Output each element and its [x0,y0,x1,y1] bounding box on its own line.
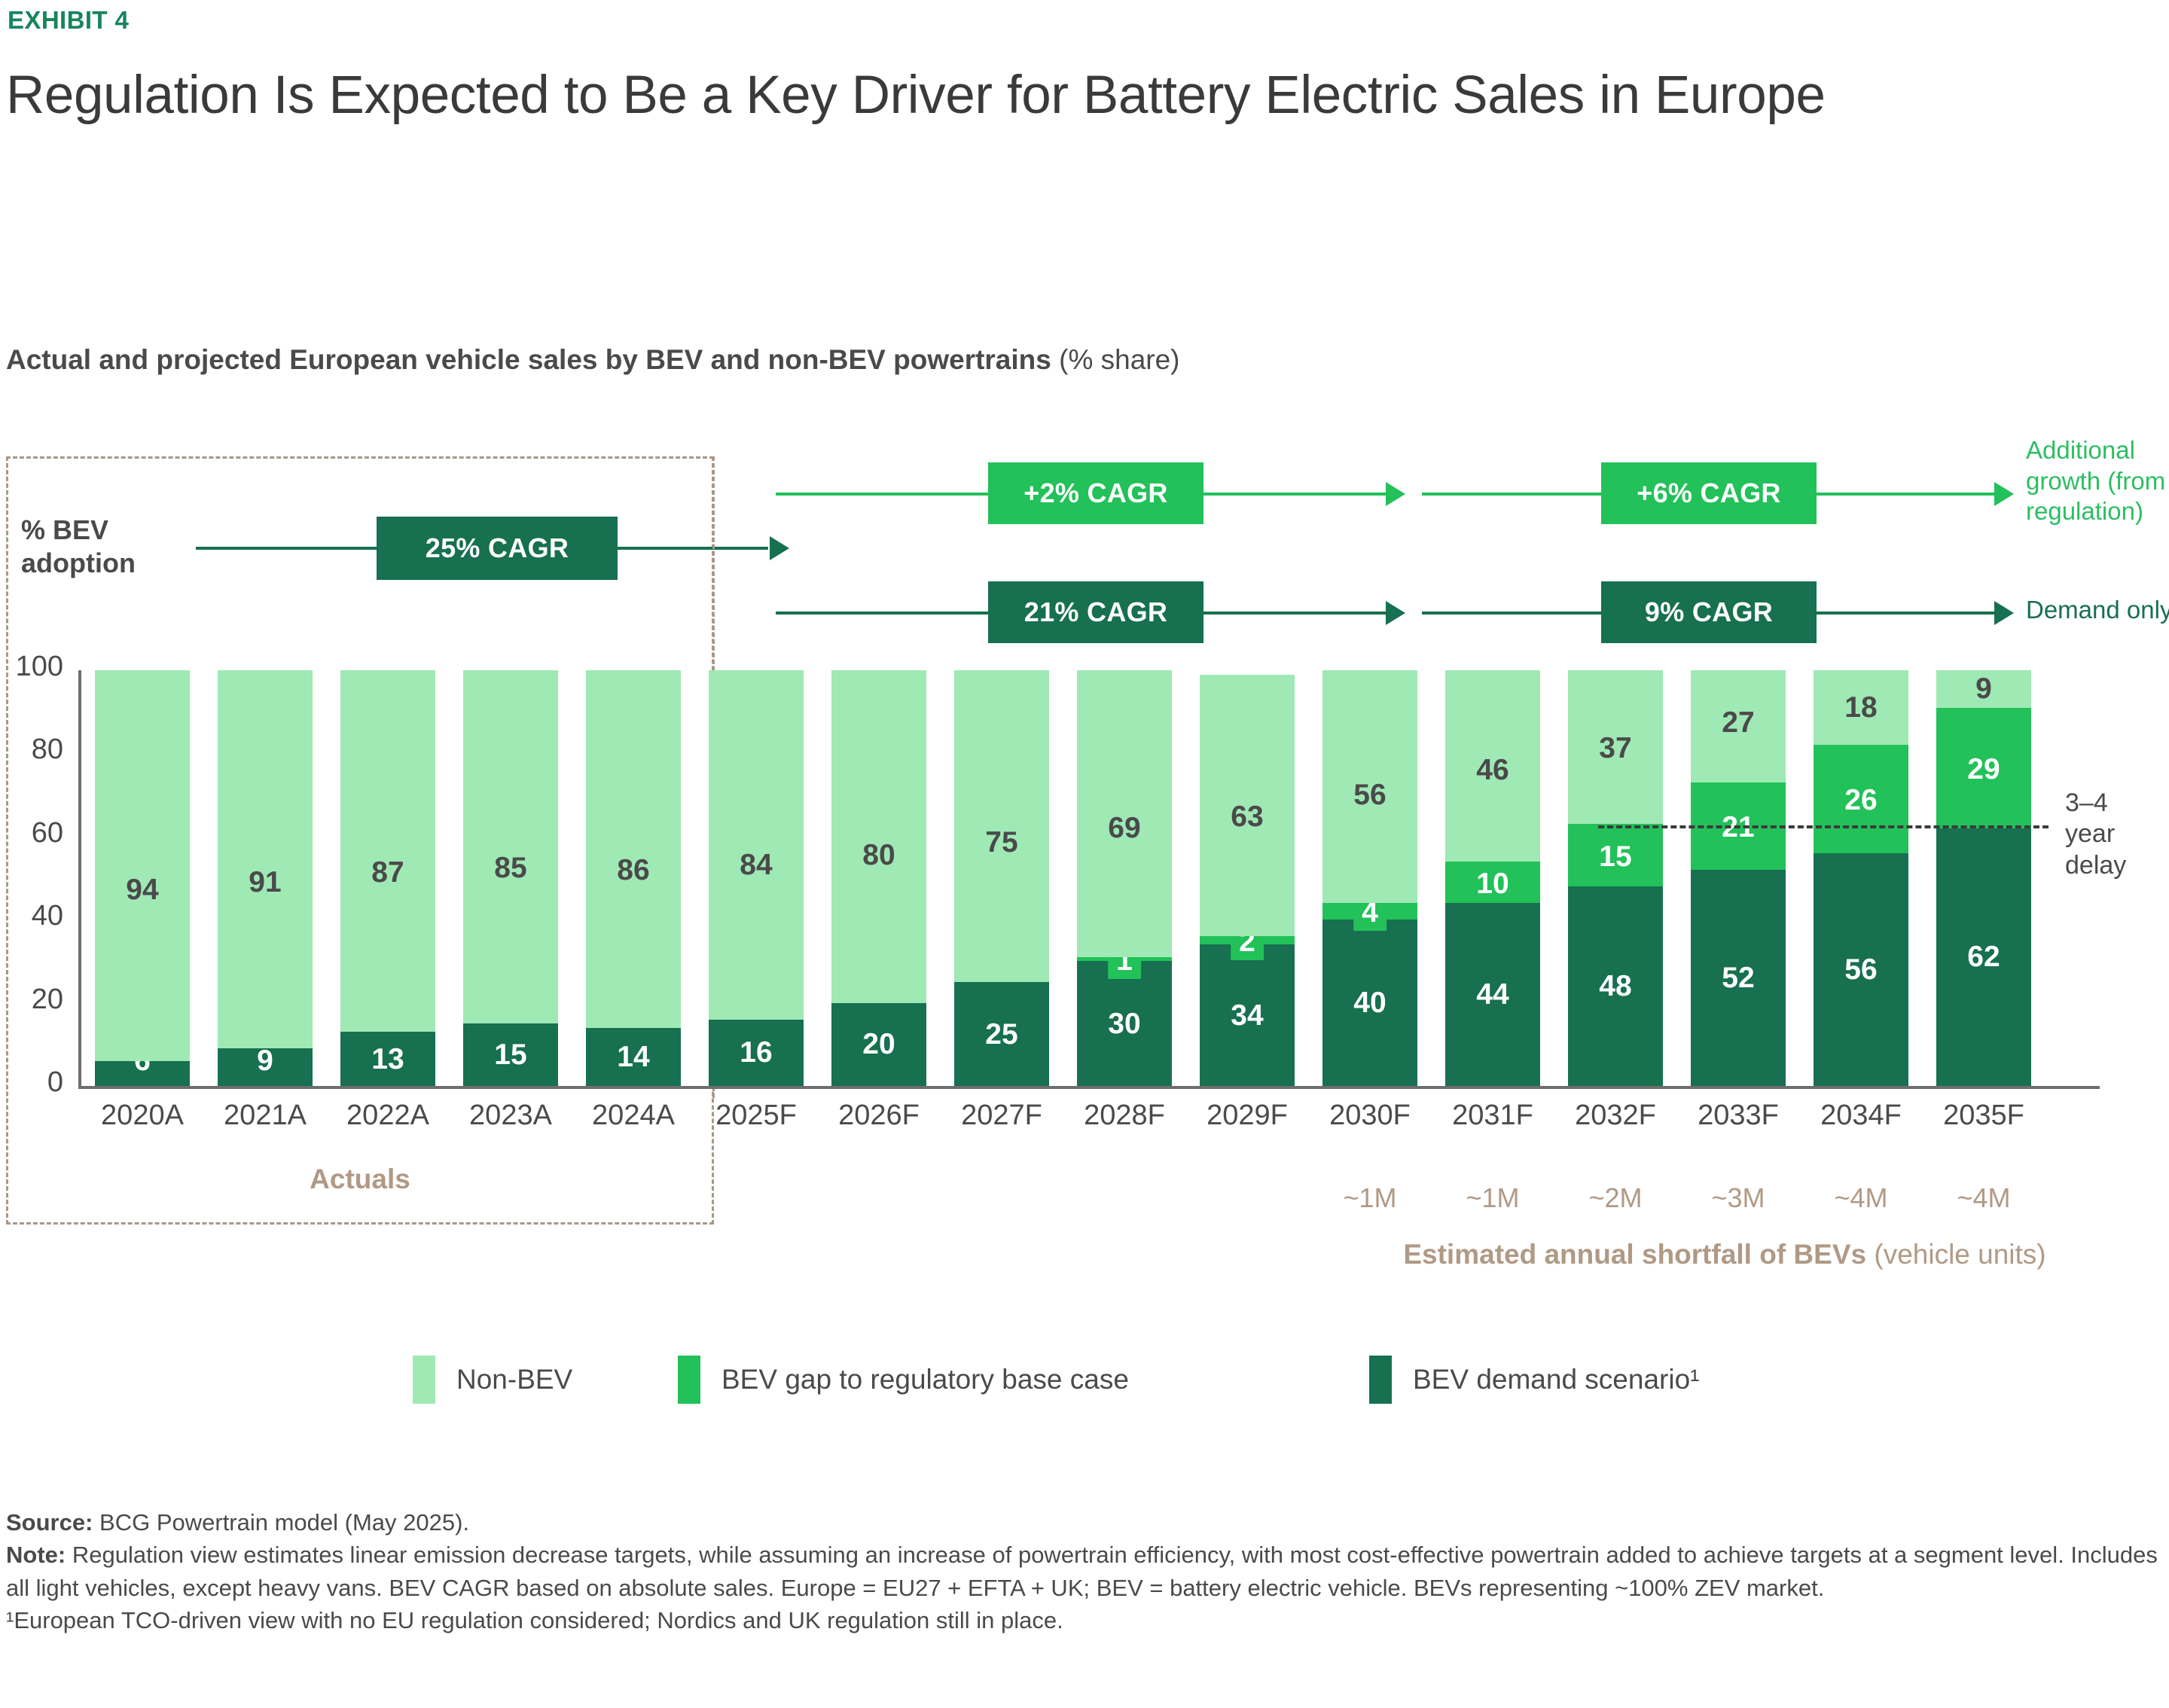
bar-segment-nonbev: 63 [1200,675,1295,937]
shortfall-value: ~1M [1306,1182,1434,1214]
x-axis-label: 2023A [447,1100,575,1132]
legend-item[interactable]: BEV demand scenario¹ [1369,1356,1699,1404]
bar-segment-nonbev: 75 [954,670,1049,982]
x-axis-label: 2031F [1429,1100,1557,1132]
bar-value-demand: 48 [1599,971,1631,1001]
bar-value-demand: 30 [1108,1009,1140,1039]
bar-segment-demand: 62 [1936,828,2031,1086]
legend-swatch [413,1356,435,1404]
footnote-source: Source: BCG Powertrain model (May 2025). [6,1506,2164,1539]
bar-column: 441046 [1445,670,1540,1086]
page-title: Regulation Is Expected to Be a Key Drive… [6,65,1934,127]
bar-value-nonbev: 84 [740,850,772,880]
cagr-arrowhead-reg-1 [1386,482,1405,506]
cagr-box-reg-1: +2% CAGR [988,462,1203,524]
side-note-demand-only: Demand only [2026,595,2169,626]
footnote-one: ¹European TCO-driven view with no EU reg… [6,1604,2164,1636]
bar-value-nonbev: 86 [617,856,649,885]
legend-label: BEV gap to regulatory base case [721,1364,1129,1395]
legend-label: Non-BEV [456,1364,572,1395]
cagr-line-reg-2 [1422,493,1994,496]
bar-column: 481537 [1568,670,1663,1086]
bar-value-gap: 10 [1468,865,1517,902]
shortfall-value: ~4M [1920,1182,2048,1214]
bar-segment-demand: 13 [340,1032,435,1086]
cagr-arrowhead-demand-1 [1386,601,1405,625]
bar-column: 2575 [954,670,1049,1086]
bar-column: 991 [218,670,313,1086]
shortfall-caption-normal: (vehicle units) [1866,1239,2046,1270]
cagr-line-reg-1 [776,493,1386,496]
bar-segment-nonbev: 27 [1691,670,1786,782]
y-axis-tick-label: 40 [0,900,63,932]
bar-value-demand: 13 [371,1045,404,1074]
x-axis-label: 2029F [1183,1100,1311,1132]
legend-label: BEV demand scenario¹ [1413,1364,1699,1395]
x-axis-label: 2034F [1797,1100,1925,1132]
footnotes: Source: BCG Powertrain model (May 2025).… [6,1506,2164,1637]
bar-column: 62299 [1936,670,2031,1086]
bar-value-demand: 56 [1844,955,1877,984]
shortfall-caption: Estimated annual shortfall of BEVs (vehi… [1280,1239,2169,1270]
cagr-arrowhead-demand-2 [1994,601,2014,625]
x-axis-label: 2035F [1920,1100,2048,1132]
footnote-note-text: Regulation view estimates linear emissio… [6,1542,2158,1600]
bar-column: 1684 [709,670,804,1086]
bar-value-demand: 9 [257,1046,273,1075]
delay-annotation: 3–4yeardelay [2065,788,2169,881]
cagr-line-demand-1 [776,612,1386,615]
bar-value-demand: 15 [494,1040,526,1069]
bar-segment-demand: 56 [1814,853,1908,1086]
bar-value-nonbev: 18 [1844,693,1877,722]
bar-segment-nonbev: 80 [831,670,926,1003]
bar-segment-demand: 52 [1691,870,1786,1086]
chart-subtitle: Actual and projected European vehicle sa… [6,344,1180,376]
bar-value-gap: 15 [1591,838,1640,875]
y-axis-tick-label: 20 [0,984,63,1016]
x-axis-label: 2033F [1674,1100,1802,1132]
x-axis-label: 2026F [815,1100,943,1132]
bar-segment-nonbev: 87 [340,670,435,1032]
bar-column: 40456 [1322,670,1417,1086]
bar-segment-nonbev: 94 [95,670,190,1061]
bar-segment-nonbev: 69 [1077,670,1172,957]
bar-segment-nonbev: 18 [1814,670,1908,745]
bar-segment-nonbev: 86 [586,670,681,1028]
bar-value-nonbev: 91 [249,868,281,897]
bar-segment-demand: 14 [586,1028,681,1086]
x-axis-label: 2032F [1551,1100,1679,1132]
shortfall-caption-bold: Estimated annual shortfall of BEVs [1403,1239,1866,1270]
x-axis-label: 2030F [1306,1100,1434,1132]
bar-segment-demand: 16 [709,1020,804,1086]
exhibit-label: EXHIBIT 4 [8,6,129,35]
x-axis-label: 2028F [1060,1100,1188,1132]
exhibit-page: EXHIBIT 4 Regulation Is Expected to Be a… [0,0,2169,1708]
bar-value-demand: 34 [1231,1001,1263,1030]
x-axis-label: 2025F [692,1100,820,1132]
y-axis-tick-label: 100 [0,651,63,683]
cagr-arrowhead-actuals [770,536,789,560]
footnote-note-label: Note: [6,1542,66,1568]
footnote-source-text: BCG Powertrain model (May 2025). [93,1509,469,1536]
cagr-line-demand-2 [1422,612,1994,615]
bar-segment-nonbev: 91 [218,670,313,1048]
bar-value-demand: 14 [617,1042,649,1072]
chart-subtitle-normal: (% share) [1051,344,1180,375]
x-axis-label: 2020A [78,1100,206,1132]
delay-guide-line [1598,825,2048,828]
bar-segment-demand: 40 [1322,920,1417,1086]
plot-area: 6949911387158514861684208025753016934263… [78,670,2097,1086]
bar-value-gap: 29 [1959,751,2008,788]
bar-value-demand: 44 [1476,980,1509,1009]
bar-column: 30169 [1077,670,1172,1086]
bar-value-nonbev: 85 [494,853,526,883]
bar-column: 562618 [1814,670,1908,1086]
legend-swatch [1369,1356,1392,1404]
x-axis-label: 2024A [569,1100,697,1132]
bar-value-demand: 25 [985,1020,1017,1049]
bar-value-nonbev: 37 [1599,734,1631,763]
bar-column: 34263 [1200,670,1295,1086]
legend-item[interactable]: BEV gap to regulatory base case [678,1356,1129,1404]
shortfall-value: ~3M [1674,1182,1802,1214]
x-axis-line [78,1086,2100,1089]
bar-value-demand: 52 [1722,963,1754,993]
x-axis-label: 2022A [324,1100,452,1132]
bar-segment-demand: 30 [1077,961,1172,1086]
y-axis-tick-label: 0 [0,1066,63,1099]
bar-segment-demand: 48 [1568,886,1663,1086]
bar-segment-nonbev: 85 [463,670,558,1023]
bar-column: 1486 [586,670,681,1086]
y-axis-tick-label: 80 [0,734,63,766]
bar-value-gap: 26 [1836,782,1885,819]
bar-segment-nonbev: 46 [1445,670,1540,862]
bar-value-nonbev: 27 [1722,708,1754,737]
bar-value-nonbev: 80 [862,840,895,870]
bar-value-demand: 16 [740,1038,772,1067]
bar-value-nonbev: 69 [1108,813,1140,843]
footnote-note: Note: Regulation view estimates linear e… [6,1539,2164,1604]
bar-value-nonbev: 87 [371,858,404,887]
footnote-source-label: Source: [6,1509,93,1536]
bar-column: 522127 [1691,670,1786,1086]
bar-column: 2080 [831,670,926,1086]
cagr-box-demand-2: 9% CAGR [1601,581,1817,643]
side-note-additional-growth: Additional growth (from regulation) [2026,435,2169,527]
x-axis-label: 2021A [201,1100,329,1132]
chart-subtitle-bold: Actual and projected European vehicle sa… [6,344,1051,375]
x-axis-label: 2027F [938,1100,1066,1132]
bar-column: 1585 [463,670,558,1086]
bar-value-nonbev: 94 [126,875,158,904]
bar-segment-demand: 15 [463,1023,558,1086]
bar-segment-demand: 9 [218,1048,313,1086]
bar-segment-demand: 20 [831,1003,926,1086]
legend-item[interactable]: Non-BEV [413,1356,572,1404]
bar-value-nonbev: 56 [1353,780,1386,810]
cagr-box-demand-1: 21% CAGR [988,581,1203,643]
shortfall-value: ~2M [1551,1182,1679,1214]
bar-segment-demand: 6 [95,1061,190,1086]
bar-segment-nonbev: 9 [1936,670,2031,708]
bar-value-demand: 40 [1353,988,1386,1017]
bar-segment-demand: 25 [954,982,1049,1086]
shortfall-value: ~1M [1429,1182,1557,1214]
actuals-caption: Actuals [6,1164,714,1195]
bar-value-nonbev: 46 [1476,755,1509,785]
bar-column: 1387 [340,670,435,1086]
bar-column: 694 [95,670,190,1086]
bar-value-nonbev: 9 [1975,674,1992,703]
bar-segment-nonbev: 56 [1322,670,1417,903]
shortfall-value: ~4M [1797,1182,1925,1214]
cagr-arrowhead-reg-2 [1994,482,2014,506]
bar-segment-nonbev: 37 [1568,670,1663,824]
bar-value-nonbev: 63 [1231,802,1263,831]
bar-value-nonbev: 75 [985,828,1017,857]
bar-value-demand: 20 [862,1029,895,1059]
bar-segment-demand: 34 [1200,944,1295,1086]
y-axis-tick-label: 60 [0,817,63,849]
stacked-bar-chart: 020406080100 694991138715851486168420802… [0,670,2169,1100]
legend-swatch [678,1356,700,1404]
cagr-box-reg-2: +6% CAGR [1601,462,1817,524]
bar-value-demand: 62 [1967,942,2000,971]
bar-segment-demand: 44 [1445,903,1540,1086]
chart-legend: Non-BEVBEV gap to regulatory base caseBE… [0,1356,2169,1408]
bar-segment-nonbev: 84 [709,670,804,1020]
